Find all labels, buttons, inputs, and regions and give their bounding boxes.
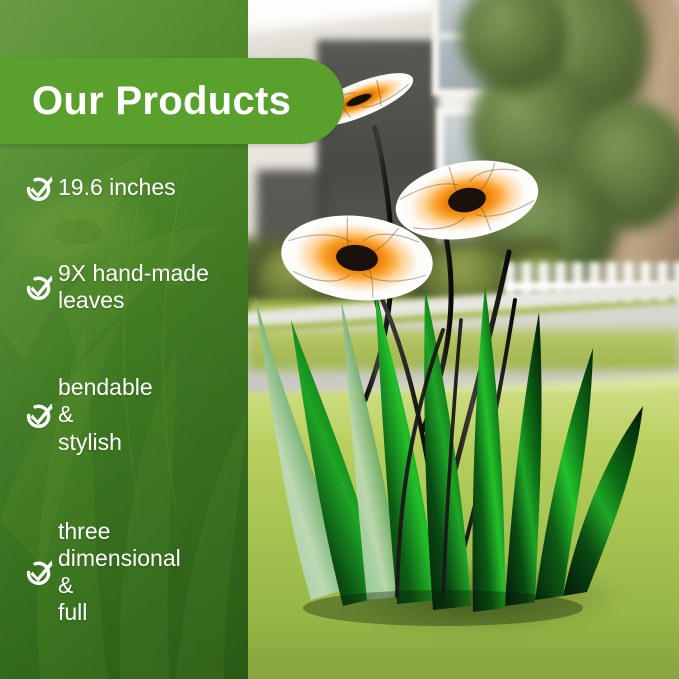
checkmark-icon bbox=[26, 401, 54, 429]
feature-list: 19.6 inches 9X hand-made leaves bbox=[0, 168, 248, 626]
feature-label: 19.6 inches bbox=[58, 174, 176, 201]
checkmark-icon bbox=[26, 174, 54, 202]
checkmark-icon bbox=[26, 273, 54, 301]
feature-label: bendable & stylish bbox=[58, 374, 153, 455]
header-banner: Our Products bbox=[0, 58, 344, 144]
product-infographic: 19.6 inches 9X hand-made leaves bbox=[0, 0, 679, 679]
feature-item-three-dimensional: three dimensional & full bbox=[0, 518, 248, 627]
feature-item-size: 19.6 inches bbox=[0, 168, 248, 208]
feature-label: three dimensional & full bbox=[58, 518, 181, 627]
feature-item-bendable: bendable & stylish bbox=[0, 374, 248, 455]
feature-item-leaves: 9X hand-made leaves bbox=[0, 260, 248, 314]
page-title: Our Products bbox=[0, 81, 291, 121]
checkmark-icon bbox=[26, 558, 54, 586]
feature-label: 9X hand-made leaves bbox=[58, 260, 209, 314]
